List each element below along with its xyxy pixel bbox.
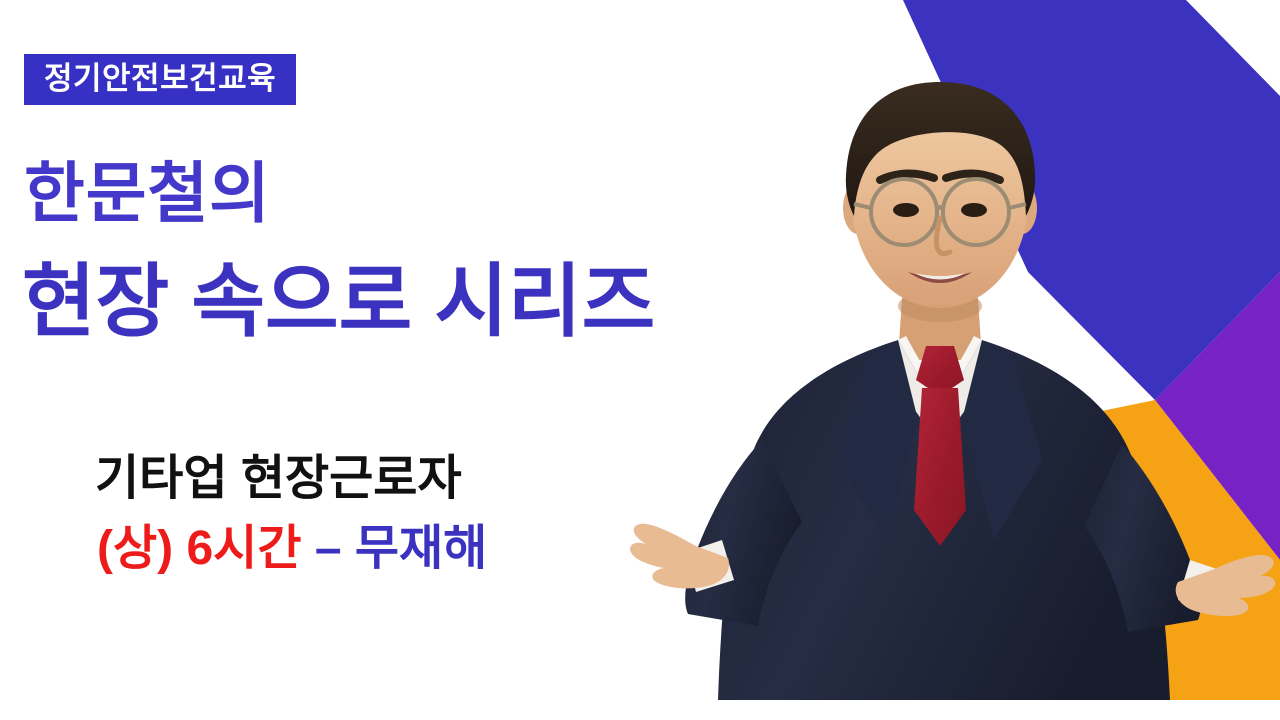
portrait-eye-right	[961, 203, 987, 217]
portrait-eye-left	[893, 203, 919, 217]
subtitle-duration-highlight: (상) 6시간	[97, 522, 315, 575]
subtitle-line-1: 기타업 현장근로자	[95, 455, 462, 503]
title-line-2: 현장 속으로 시리즈	[22, 262, 655, 342]
category-badge: 정기안전보건교육	[24, 54, 296, 105]
subtitle-topic: – 무재해	[315, 522, 488, 575]
subtitle-line-2: (상) 6시간 – 무재해	[97, 525, 487, 573]
title-line-1: 한문철의	[24, 160, 271, 226]
text-block: 정기안전보건교육 한문철의 현장 속으로 시리즈 기타업 현장근로자 (상) 6…	[0, 0, 880, 720]
thumbnail-canvas: 정기안전보건교육 한문철의 현장 속으로 시리즈 기타업 현장근로자 (상) 6…	[0, 0, 1280, 720]
